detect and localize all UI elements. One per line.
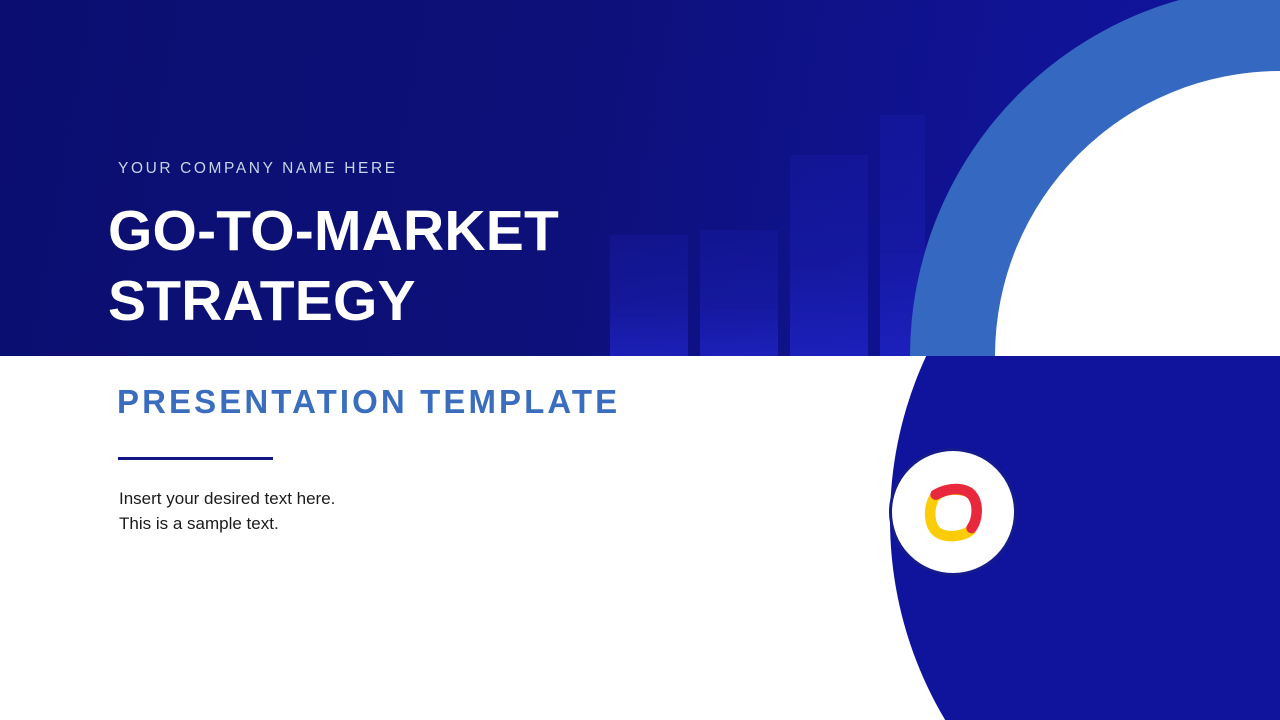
- company-logo-icon: [922, 481, 984, 543]
- slide-subheading: PRESENTATION TEMPLATE: [117, 383, 620, 421]
- slide-body-line-2: This is a sample text.: [119, 511, 549, 536]
- slide-body-line-1: Insert your desired text here.: [119, 486, 549, 511]
- company-logo-badge: [889, 448, 1017, 576]
- slide-body-text: Insert your desired text here. This is a…: [119, 486, 549, 536]
- accent-divider-rule: [118, 457, 273, 460]
- slide-title: GO-TO-MARKET STRATEGY: [108, 196, 728, 336]
- slide-title-line-2: STRATEGY: [108, 266, 728, 336]
- slide-title-line-1: GO-TO-MARKET: [108, 196, 728, 266]
- presentation-slide: YOUR COMPANY NAME HERE GO-TO-MARKET STRA…: [0, 0, 1280, 720]
- company-name-eyebrow: YOUR COMPANY NAME HERE: [118, 160, 398, 178]
